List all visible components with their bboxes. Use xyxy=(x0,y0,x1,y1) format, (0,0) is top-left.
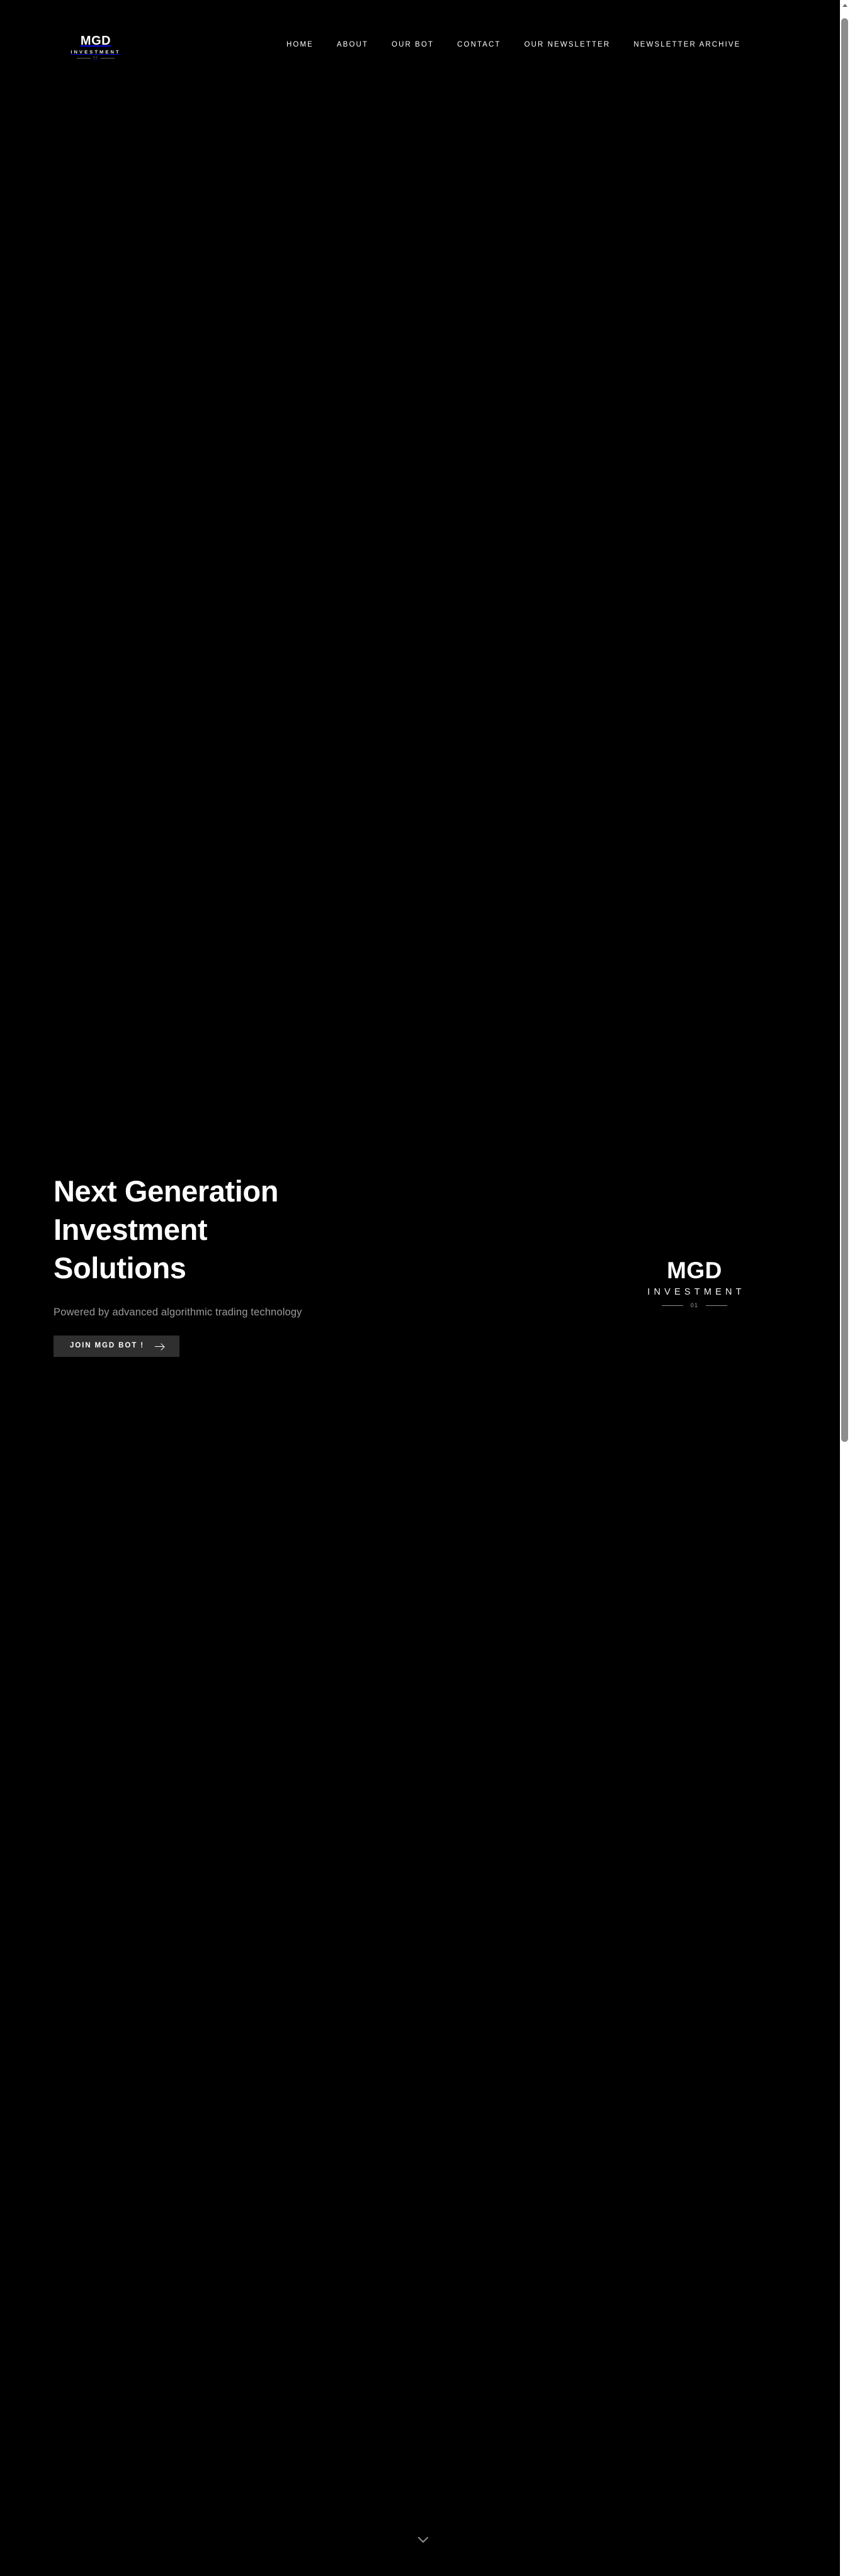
hero-title: Next Generation Investment Solutions xyxy=(54,1172,456,1287)
hero-subtitle: Powered by advanced algorithmic trading … xyxy=(54,1305,456,1320)
nav-item-our-newsletter[interactable]: OUR NEWSLETTER xyxy=(524,42,611,49)
chevron-down-icon[interactable] xyxy=(412,2533,434,2548)
emblem-divider-line-left xyxy=(662,1305,683,1306)
brand-logo-name: MGD xyxy=(62,35,130,47)
nav-item-about[interactable]: ABOUT xyxy=(337,42,368,49)
site-header: MGD INVESTMENT 01 HOME ABOUT OUR BOT CON… xyxy=(0,0,840,101)
arrow-right-icon xyxy=(155,1343,164,1350)
hero-section: Next Generation Investment Solutions Pow… xyxy=(0,0,840,2576)
scrollbar-thumb[interactable] xyxy=(841,18,848,1442)
nav-item-our-bot[interactable]: OUR BOT xyxy=(392,42,434,49)
nav-item-home[interactable]: HOME xyxy=(286,42,314,49)
scrollbar-track[interactable] xyxy=(840,1442,850,2576)
emblem-divider-line-right xyxy=(706,1305,727,1306)
nav-item-contact[interactable]: CONTACT xyxy=(457,42,501,49)
brand-logo-divider: 01 xyxy=(62,57,130,60)
brand-divider-line-left xyxy=(77,58,91,59)
brand-logo[interactable]: MGD INVESTMENT 01 xyxy=(62,35,130,60)
hero-copy: Next Generation Investment Solutions Pow… xyxy=(54,1172,456,1357)
join-mgd-bot-button-label: JOIN MGD BOT ! xyxy=(70,1342,144,1350)
caret-up-icon[interactable] xyxy=(840,0,850,11)
brand-logo-badge: 01 xyxy=(93,57,98,60)
hero-emblem-divider: 01 xyxy=(630,1303,759,1308)
nav-item-newsletter-archive[interactable]: NEWSLETTER ARCHIVE xyxy=(633,42,740,49)
caret-up-glyph xyxy=(842,4,847,7)
brand-logo-tagline: INVESTMENT xyxy=(62,50,130,55)
brand-divider-line-right xyxy=(101,58,115,59)
hero-emblem-tagline: INVESTMENT xyxy=(630,1288,759,1297)
page-root: MGD INVESTMENT 01 HOME ABOUT OUR BOT CON… xyxy=(0,0,840,2576)
join-mgd-bot-button[interactable]: JOIN MGD BOT ! xyxy=(54,1336,179,1357)
hero-emblem-name: MGD xyxy=(630,1259,759,1282)
browser-scrollbar[interactable] xyxy=(840,0,850,2576)
hero-emblem: MGD INVESTMENT 01 xyxy=(630,1259,759,1308)
hero-emblem-badge: 01 xyxy=(691,1303,698,1308)
main-navigation: HOME ABOUT OUR BOT CONTACT OUR NEWSLETTE… xyxy=(286,42,740,49)
